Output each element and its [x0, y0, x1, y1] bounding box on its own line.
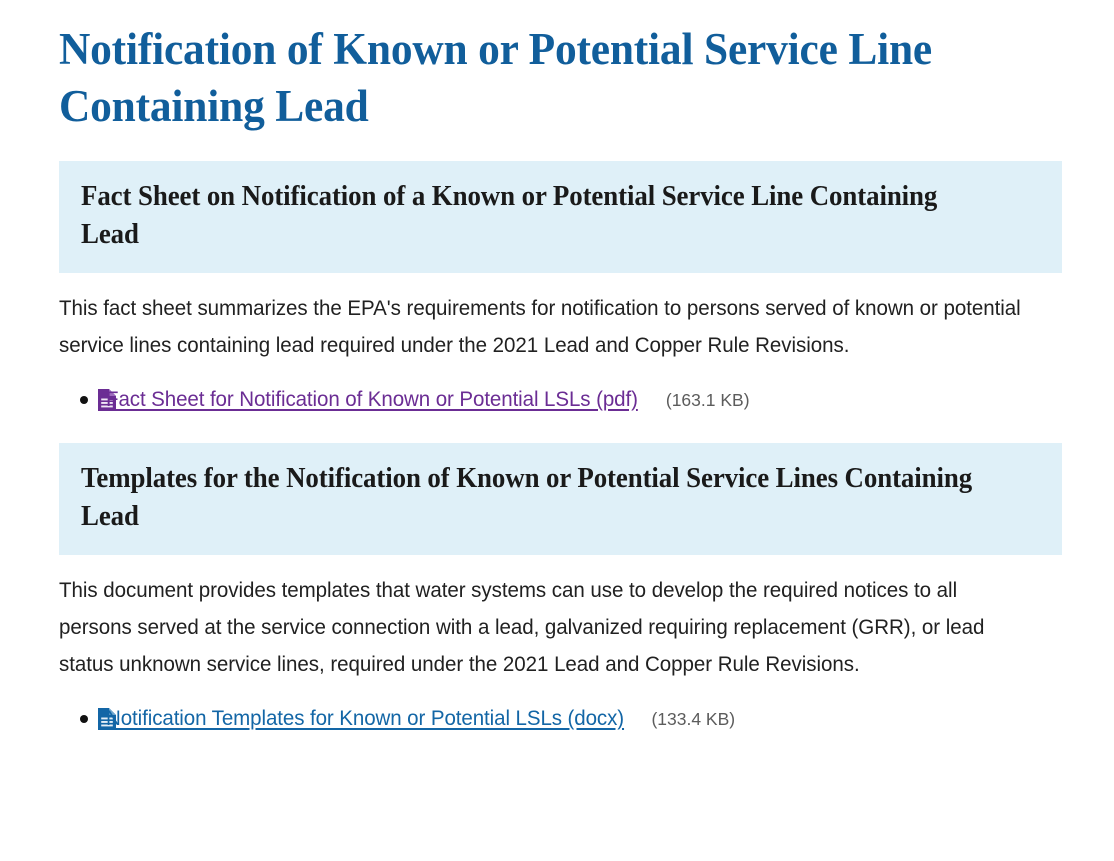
content-column: Notification of Known or Potential Servi…	[59, 0, 1062, 740]
resource-list-2: Notification Templates for Known or Pote…	[59, 703, 1062, 736]
bullet-icon	[80, 396, 88, 404]
section-heading-1: Fact Sheet on Notification of a Known or…	[81, 178, 1002, 254]
list-item: Fact Sheet for Notification of Known or …	[59, 384, 1062, 417]
file-size-label: (163.1 KB)	[666, 390, 750, 410]
section-paragraph-2: This document provides templates that wa…	[59, 572, 1025, 683]
resource-link-notification-templates[interactable]: Notification Templates for Known or Pote…	[106, 703, 624, 733]
page-title: Notification of Known or Potential Servi…	[59, 0, 1034, 135]
resource-list-1: Fact Sheet for Notification of Known or …	[59, 384, 1062, 417]
section-paragraph-1: This fact sheet summarizes the EPA's req…	[59, 290, 1025, 364]
resource-link-fact-sheet[interactable]: Fact Sheet for Notification of Known or …	[106, 384, 638, 414]
section-header-band-1: Fact Sheet on Notification of a Known or…	[59, 161, 1062, 273]
file-size-label: (133.4 KB)	[651, 709, 735, 729]
section-header-band-2: Templates for the Notification of Known …	[59, 443, 1062, 555]
bullet-icon	[80, 715, 88, 723]
section-heading-2: Templates for the Notification of Known …	[81, 460, 1002, 536]
document-page: Notification of Known or Potential Servi…	[0, 0, 1114, 861]
list-item: Notification Templates for Known or Pote…	[59, 703, 1062, 736]
